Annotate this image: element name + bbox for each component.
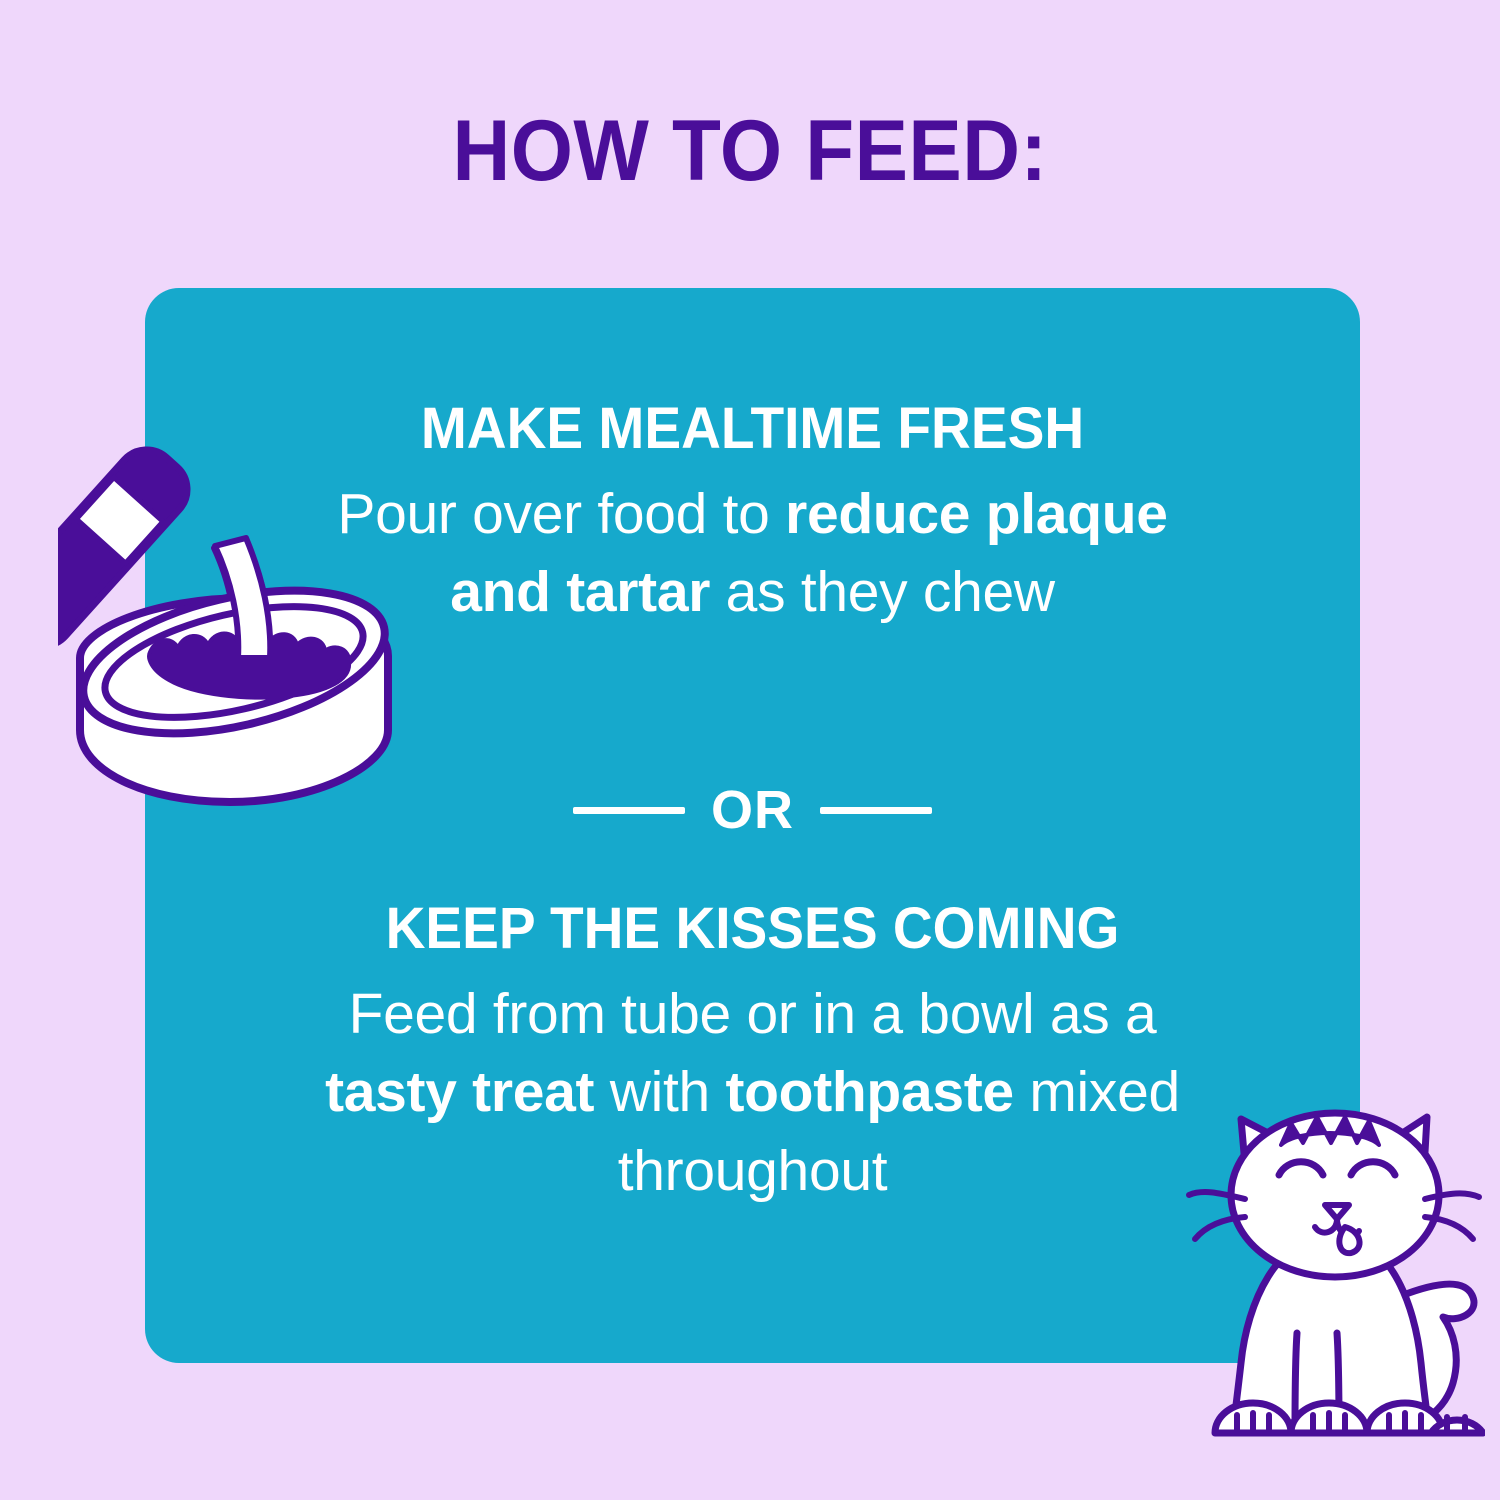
instruction-section-2: KEEP THE KISSES COMING Feed from tube or… xyxy=(320,898,1185,1211)
poster-canvas: HOW TO FEED: MAKE MEALTIME FRESH Pour ov… xyxy=(0,0,1500,1500)
section-1-body-part-3: as they chew xyxy=(710,560,1055,624)
section-2-heading: KEEP THE KISSES COMING xyxy=(342,898,1164,961)
divider-line-right xyxy=(820,807,932,814)
section-2-body-part-4: toothpaste xyxy=(725,1060,1013,1124)
instruction-section-1: MAKE MEALTIME FRESH Pour over food to re… xyxy=(320,398,1185,632)
cat-paw-4 xyxy=(1431,1420,1483,1433)
section-2-body-part-3: with xyxy=(594,1060,725,1124)
page-title: HOW TO FEED: xyxy=(53,108,1448,194)
divider-label: OR xyxy=(711,783,794,837)
toothpaste-tube-bowl-icon xyxy=(58,430,408,830)
or-divider: OR xyxy=(320,783,1185,837)
section-2-body: Feed from tube or in a bowl as a tasty t… xyxy=(320,975,1185,1211)
section-2-body-part-1: Feed from tube or in a bowl as a xyxy=(349,982,1157,1046)
cat-tongue xyxy=(1339,1227,1359,1253)
section-2-body-part-2: tasty treat xyxy=(325,1060,594,1124)
divider-line-left xyxy=(573,807,685,814)
section-1-body: Pour over food to reduce plaque and tart… xyxy=(320,475,1185,632)
happy-cat-icon xyxy=(1185,1095,1485,1485)
section-1-heading: MAKE MEALTIME FRESH xyxy=(342,398,1164,461)
